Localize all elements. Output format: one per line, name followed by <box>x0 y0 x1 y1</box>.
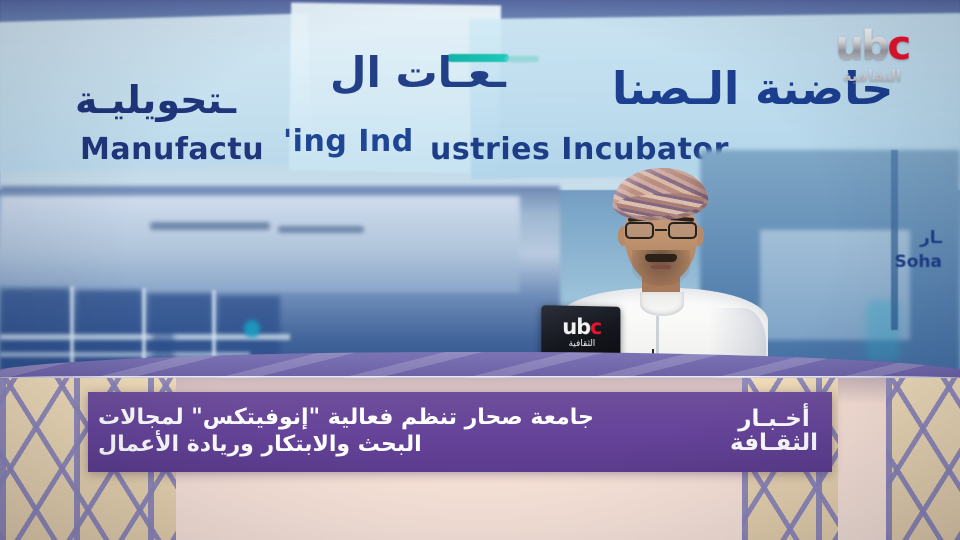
laptop-logo-wordmark-prefix: ub <box>562 315 590 339</box>
presenter-collar <box>640 292 684 316</box>
ceiling-light-strip <box>150 222 270 230</box>
desk-lattice-panel-right <box>886 378 960 540</box>
ceiling-light-strip <box>278 226 364 233</box>
laptop-logo-wordmark: ubc <box>554 317 609 338</box>
omani-massar-headwear <box>611 166 710 223</box>
headline-line-1: جامعة صحار تنظم فعالية "إنوفيتكس" لمجالا… <box>98 405 594 432</box>
backdrop-signage-arabic-3: ـتحويليـة <box>75 78 236 122</box>
channel-logo-subtitle: الثقافية <box>808 67 936 85</box>
lower-third-headline: جامعة صحار تنظم فعالية "إنوفيتكس" لمجالا… <box>98 392 720 472</box>
presenter-mustache <box>645 254 677 262</box>
backdrop-signage-english-3: Manufactu <box>80 132 264 167</box>
backdrop-teal-accent-secondary <box>505 56 539 62</box>
channel-logo-wordmark-prefix: ub <box>835 23 887 69</box>
channel-logo-wordmark-accent: c <box>887 23 908 69</box>
laptop-logo-wordmark-accent: c <box>590 315 601 339</box>
backdrop-signage-arabic-2: ـعـات ال <box>330 48 506 97</box>
eyeglass-lens-right <box>668 222 697 239</box>
presenter-mouth <box>651 265 671 269</box>
side-signage-english: Soha <box>895 252 943 272</box>
channel-logo-wordmark: ubc <box>808 26 936 66</box>
eyeglass-bridge <box>655 229 667 231</box>
side-signage-arabic: ـار <box>920 228 942 248</box>
backdrop-signage-english-2: 'ing Ind <box>283 124 414 159</box>
channel-logo-bug: ubc الثقافية <box>808 26 936 88</box>
lower-third-category-label: أخـبـار الثقـافة <box>726 392 822 472</box>
studio-right-pillar <box>891 150 898 330</box>
laptop-logo-subtitle: الثقافية <box>554 339 609 349</box>
backdrop-signage-english-1: ustries Incubator <box>430 132 729 167</box>
broadcast-frame: حاضنة الـصنا ـعـات ال ـتحويليـة ustries … <box>0 0 960 540</box>
category-line-2: الثقـافة <box>730 432 818 456</box>
category-line-1: أخـبـار <box>738 408 809 432</box>
laptop-channel-logo: ubc الثقافية <box>554 317 609 352</box>
eyeglass-lens-left <box>625 222 654 239</box>
office-person-blur <box>244 320 260 338</box>
lower-third-banner: جامعة صحار تنظم فعالية "إنوفيتكس" لمجالا… <box>88 392 832 472</box>
eyeglasses-icon <box>624 222 698 239</box>
headline-line-2: البحث والابتكار وريادة الأعمال <box>98 432 422 459</box>
studio-ceiling <box>0 196 520 292</box>
